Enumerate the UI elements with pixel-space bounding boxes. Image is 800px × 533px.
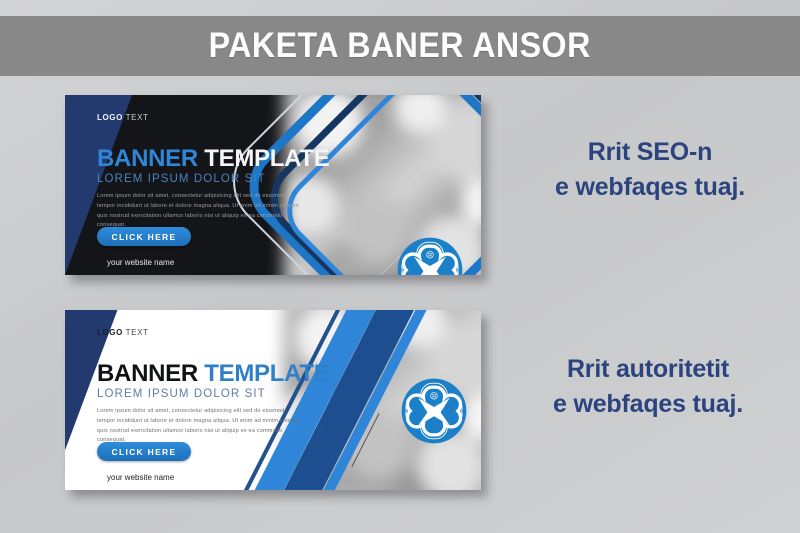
ansor-quatrefoil-icon [397, 237, 463, 275]
banner-paragraph: Lorem ipsum dolor sit amet, consectetur … [97, 192, 302, 231]
banner-logo-soft: TEXT [126, 328, 149, 337]
banner-content: LOGO TEXT BANNER TEMPLATE LOREM IPSUM DO… [97, 310, 347, 490]
banner-logo-strong: LOGO [97, 328, 123, 337]
caption-authority: Rrit autoritetit e webfaqes tuaj. [498, 352, 798, 421]
banner-subheadline: LOREM IPSUM DOLOR SIT [97, 173, 266, 185]
poster-canvas: PAKETA BANER ANSOR LOGO TEXT [0, 0, 800, 533]
page-title: PAKETA BANER ANSOR [209, 26, 591, 66]
header-band: PAKETA BANER ANSOR [0, 16, 800, 76]
headline-word-2: TEMPLATE [204, 360, 329, 387]
banner-logo: LOGO TEXT [97, 113, 149, 122]
caption-line-2: e webfaqes tuaj. [498, 387, 798, 422]
caption-seo: Rrit SEO-n e webfaqes tuaj. [505, 135, 795, 204]
click-here-button[interactable]: CLICK HERE [97, 442, 191, 461]
banner-logo-strong: LOGO [97, 113, 123, 122]
headline-word-1: BANNER [97, 360, 198, 387]
caption-line-1: Rrit SEO-n [505, 135, 795, 170]
banner-website-label: your website name [107, 258, 174, 267]
ansor-quatrefoil-icon [401, 378, 467, 444]
headline-word-1: BANNER [97, 145, 198, 172]
banner-paragraph: Lorem ipsum dolor sit amet, consectetur … [97, 407, 302, 446]
banner-preview-dark[interactable]: LOGO TEXT BANNER TEMPLATE LOREM IPSUM DO… [65, 95, 481, 275]
banner-preview-light[interactable]: LOGO TEXT BANNER TEMPLATE LOREM IPSUM DO… [65, 310, 481, 490]
caption-line-1: Rrit autoritetit [498, 352, 798, 387]
banner-logo-soft: TEXT [126, 113, 149, 122]
click-here-button[interactable]: CLICK HERE [97, 227, 191, 246]
headline-word-2: TEMPLATE [204, 145, 329, 172]
caption-line-2: e webfaqes tuaj. [505, 170, 795, 205]
banner-content: LOGO TEXT BANNER TEMPLATE LOREM IPSUM DO… [97, 95, 347, 275]
banner-website-label: your website name [107, 473, 174, 482]
banner-headline: BANNER TEMPLATE [97, 145, 329, 173]
banner-headline: BANNER TEMPLATE [97, 360, 329, 388]
banner-logo: LOGO TEXT [97, 328, 149, 337]
banner-subheadline: LOREM IPSUM DOLOR SIT [97, 388, 266, 400]
